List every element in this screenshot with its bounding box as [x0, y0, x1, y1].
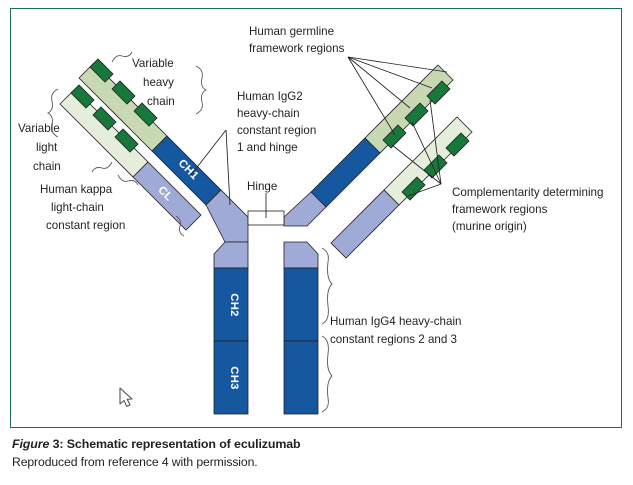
caption-title-text: 3: Schematic representation of eculizuma… [53, 437, 301, 451]
hinge-connector [248, 193, 284, 225]
svg-text:constant region: constant region [237, 124, 316, 137]
svg-text:heavy: heavy [143, 76, 174, 89]
right-heavy-chain [284, 65, 453, 226]
fc-stem-left: CH2 CH3 [214, 242, 248, 414]
right-light-chain [331, 117, 472, 258]
svg-text:chain: chain [33, 160, 61, 173]
domain-label-ch3: CH3 [228, 366, 240, 390]
svg-text:light: light [36, 141, 58, 154]
figure-container: CL CH1 [0, 0, 633, 485]
caption-title-line: Figure 3: Schematic representation of ec… [12, 436, 612, 452]
domain-label-ch2: CH2 [228, 293, 240, 317]
label-human-igg4-fc: Human IgG4 heavy-chain constant regions … [322, 248, 461, 412]
antibody-schematic: CL CH1 [0, 0, 633, 485]
svg-text:Complementarity determining: Complementarity determining [452, 186, 603, 199]
svg-text:chain: chain [147, 95, 175, 108]
label-hinge: Hinge [247, 180, 277, 193]
svg-text:Human kappa: Human kappa [40, 183, 113, 196]
caption-attribution: Reproduced from reference 4 with permiss… [12, 454, 612, 470]
svg-text:Human germline: Human germline [249, 25, 334, 38]
svg-text:framework regions: framework regions [452, 203, 548, 216]
svg-text:constant region: constant region [46, 219, 125, 232]
svg-text:light-chain: light-chain [51, 201, 104, 214]
svg-text:framework regions: framework regions [249, 42, 345, 55]
svg-text:Variable: Variable [132, 57, 174, 70]
fc-stem-right [284, 242, 318, 414]
svg-text:constant regions 2 and 3: constant regions 2 and 3 [330, 333, 457, 346]
svg-text:1 and hinge: 1 and hinge [237, 141, 298, 154]
svg-text:heavy-chain: heavy-chain [237, 107, 300, 120]
svg-text:(murine origin): (murine origin) [452, 220, 527, 233]
mouse-cursor [120, 388, 132, 406]
svg-text:Human IgG2: Human IgG2 [237, 90, 303, 103]
svg-text:Variable: Variable [18, 122, 60, 135]
svg-text:Human IgG4 heavy-chain: Human IgG4 heavy-chain [330, 315, 461, 328]
caption-figure-word: Figure [12, 437, 49, 451]
figure-caption: Figure 3: Schematic representation of ec… [12, 436, 612, 470]
